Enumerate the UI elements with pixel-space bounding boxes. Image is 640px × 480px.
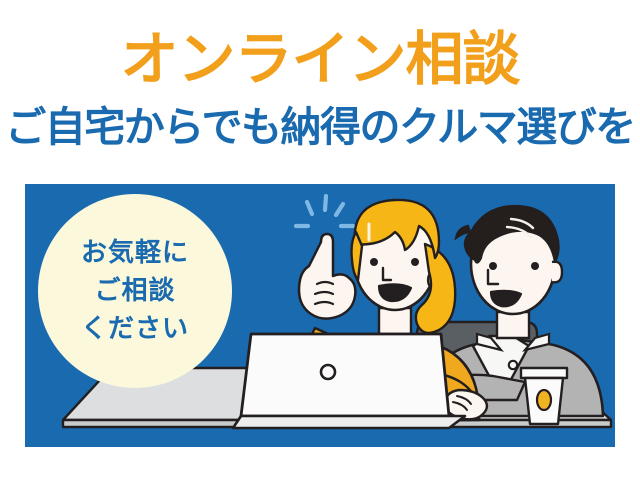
badge-line-1: お気軽に — [81, 234, 189, 272]
coffee-cup-icon — [521, 368, 567, 424]
illustration-panel: お気軽に ご相談 ください — [25, 184, 615, 447]
online-consultation-banner: オンライン相談 ご自宅からでも納得のクルマ選びを — [0, 0, 640, 480]
badge-line-2: ご相談 — [94, 272, 175, 310]
page-subtitle: ご自宅からでも納得のクルマ選びを — [0, 103, 640, 151]
laptop-icon — [233, 334, 465, 428]
page-title: オンライン相談 — [0, 27, 640, 91]
badge-line-3: ください — [81, 310, 189, 348]
badge-text: お気軽に ご相談 ください — [38, 194, 232, 388]
